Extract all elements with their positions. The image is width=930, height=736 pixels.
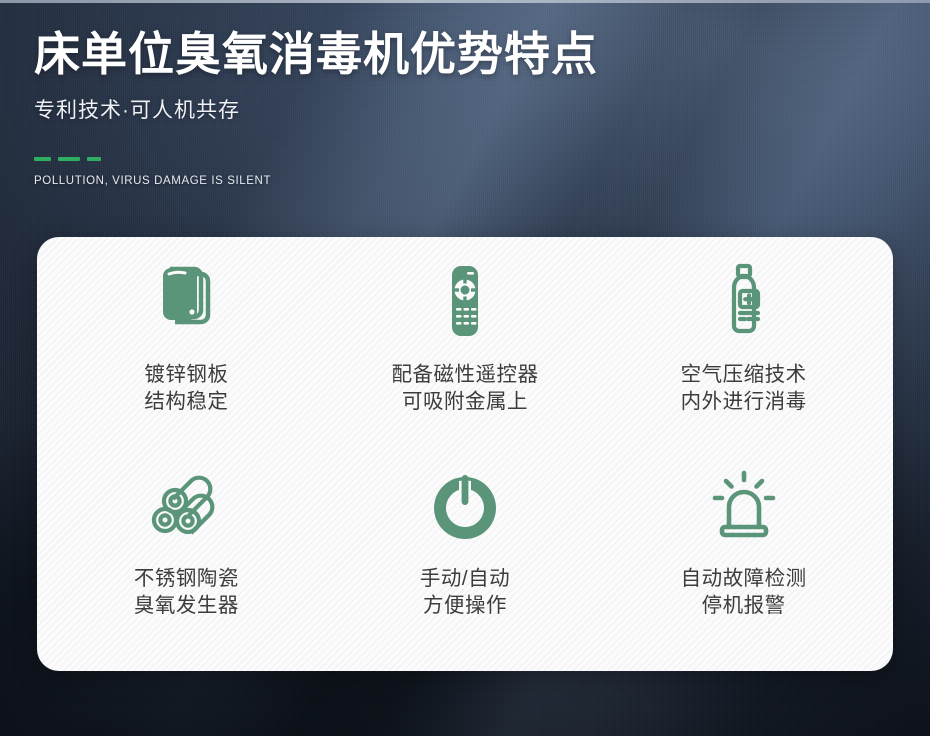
feature-caption-line2: 臭氧发生器 [134, 592, 239, 619]
feature-caption: 镀锌钢板 结构稳定 [144, 361, 228, 415]
accent-dash-3 [87, 157, 101, 161]
features-grid: 镀锌钢板 结构稳定 [37, 237, 893, 671]
feature-caption-line2: 结构稳定 [144, 388, 228, 415]
feature-caption-line2: 方便操作 [420, 592, 510, 619]
feature-item-air-compression: 空气压缩技术 内外进行消毒 [604, 253, 883, 457]
feature-caption: 不锈钢陶瓷 臭氧发生器 [134, 565, 239, 619]
features-card: 镀锌钢板 结构稳定 [37, 237, 893, 671]
feature-item-remote-control: 配备磁性遥控器 可吸附金属上 [326, 253, 605, 457]
accent-dashes [34, 157, 598, 161]
feature-caption-line1: 手动/自动 [420, 565, 510, 592]
eyebrow-text: POLLUTION, VIRUS DAMAGE IS SILENT [34, 175, 598, 187]
page-title: 床单位臭氧消毒机优势特点 [34, 28, 598, 80]
feature-caption: 配备磁性遥控器 可吸附金属上 [391, 361, 538, 415]
power-button-icon [422, 463, 508, 553]
feature-item-fault-alarm: 自动故障检测 停机报警 [604, 457, 883, 661]
page-subtitle: 专利技术·可人机共存 [34, 94, 598, 124]
feature-caption: 手动/自动 方便操作 [420, 565, 510, 619]
feature-caption-line2: 停机报警 [681, 592, 807, 619]
feature-caption-line1: 配备磁性遥控器 [391, 361, 538, 388]
steel-plates-icon [143, 253, 229, 349]
feature-caption-line1: 自动故障检测 [681, 565, 807, 592]
feature-caption-line2: 可吸附金属上 [391, 388, 538, 415]
feature-item-ozone-generator: 不锈钢陶瓷 臭氧发生器 [47, 457, 326, 661]
feature-item-manual-auto: 手动/自动 方便操作 [326, 457, 605, 661]
alarm-beacon-icon [701, 463, 787, 553]
feature-caption-line1: 镀锌钢板 [144, 361, 228, 388]
feature-caption: 空气压缩技术 内外进行消毒 [681, 361, 807, 415]
remote-control-icon [422, 253, 508, 349]
feature-caption-line2: 内外进行消毒 [681, 388, 807, 415]
disinfectant-bottle-icon [701, 253, 787, 349]
feature-caption-line1: 不锈钢陶瓷 [134, 565, 239, 592]
feature-item-steel-plates: 镀锌钢板 结构稳定 [47, 253, 326, 457]
ozone-tubes-icon [143, 463, 229, 553]
top-highlight-line [0, 0, 930, 3]
accent-dash-2 [58, 157, 80, 161]
accent-dash-1 [34, 157, 51, 161]
promo-banner: 床单位臭氧消毒机优势特点 专利技术·可人机共存 POLLUTION, VIRUS… [0, 0, 930, 736]
header-block: 床单位臭氧消毒机优势特点 专利技术·可人机共存 POLLUTION, VIRUS… [34, 28, 598, 187]
feature-caption-line1: 空气压缩技术 [681, 361, 807, 388]
feature-caption: 自动故障检测 停机报警 [681, 565, 807, 619]
